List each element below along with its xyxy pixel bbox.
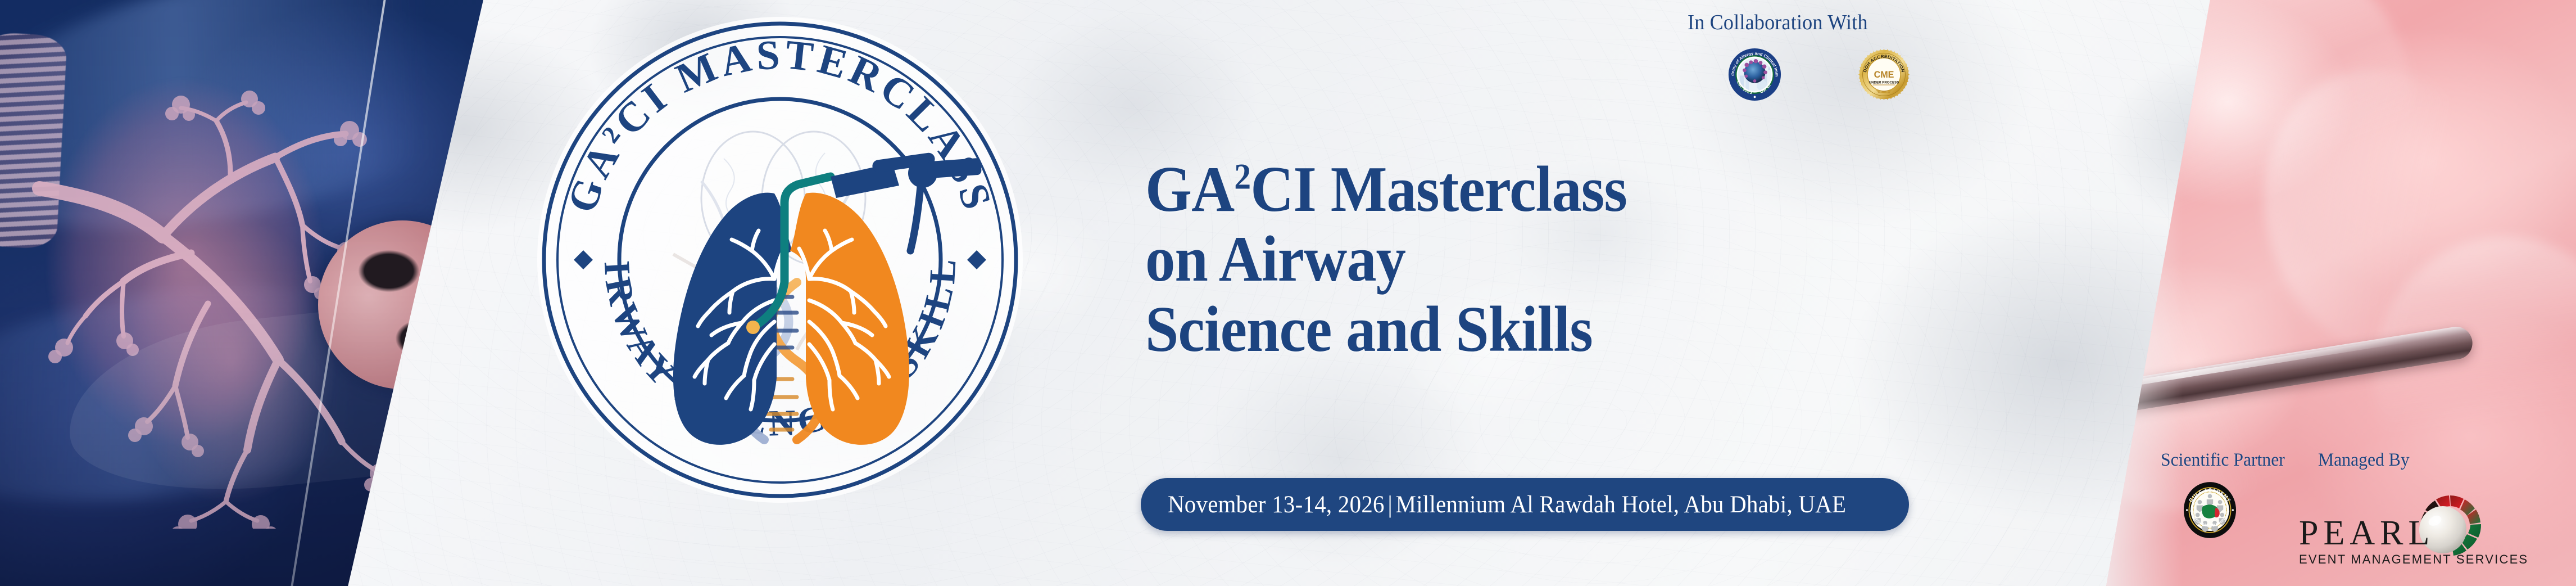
- gaaci-seal-icon: Gulf Academy of Allergy and Clinical Imm…: [1728, 48, 1781, 101]
- collaboration-label: In Collaboration With: [1688, 10, 2019, 35]
- scientific-partner-label: Scientific Partner: [2161, 450, 2285, 471]
- event-date-venue-text: November 13-14, 2026|Millennium Al Rawda…: [1168, 491, 1846, 519]
- title-line-1-pre: GA: [1145, 154, 1234, 226]
- collaboration-badges: Gulf Academy of Allergy and Clinical Imm…: [1728, 48, 1911, 101]
- gulf-academy-medical-training-seal-icon: GULF ACADEMY FOR MEDICAL TRAINING LLC: [2183, 479, 2237, 541]
- event-banner: GA²CI MASTERCLASS AIRWAY SCIENCE & SKILL…: [0, 0, 2576, 586]
- event-dates: November 13-14, 2026: [1168, 492, 1385, 518]
- managed-by-label: Managed By: [2318, 450, 2410, 471]
- title-superscript-2: 2: [1234, 156, 1250, 197]
- event-separator: |: [1385, 491, 1396, 519]
- title-line-2: on Airway: [1145, 226, 1972, 292]
- cme-center-text: CME: [1874, 70, 1894, 80]
- event-venue: Millennium Al Rawdah Hotel, Abu Dhabi, U…: [1396, 492, 1847, 518]
- title-line-1: GA2CI Masterclass: [1145, 156, 1972, 223]
- event-date-venue-bar: November 13-14, 2026|Millennium Al Rawda…: [1141, 478, 1909, 531]
- pearl-event-management-logo-icon: PEARL EVENT MANAGEMENT SERVICES: [2294, 489, 2530, 574]
- cme-accreditation-seal-icon: DOH ACCREDITATION CME UNDER PROCESS: [1857, 48, 1911, 101]
- cme-sub-text: UNDER PROCESS: [1869, 81, 1899, 85]
- masterclass-seal-logo: GA²CI MASTERCLASS AIRWAY SCIENCE & SKILL…: [533, 12, 1027, 507]
- title-line-1-post: CI Masterclass: [1250, 154, 1627, 226]
- event-title-block: GA2CI Masterclass on Airway Science and …: [1145, 156, 2044, 366]
- title-line-3: Science and Skills: [1145, 296, 1972, 363]
- collaboration-section: In Collaboration With: [1688, 10, 2036, 35]
- pearl-wordmark: PEARL: [2299, 514, 2434, 552]
- pearl-tagline: EVENT MANAGEMENT SERVICES: [2299, 552, 2528, 566]
- scientific-partner-column: Scientific Partner: [2161, 450, 2290, 471]
- managed-by-column: Managed By: [2318, 450, 2414, 471]
- partners-section: Scientific Partner: [2161, 450, 2565, 586]
